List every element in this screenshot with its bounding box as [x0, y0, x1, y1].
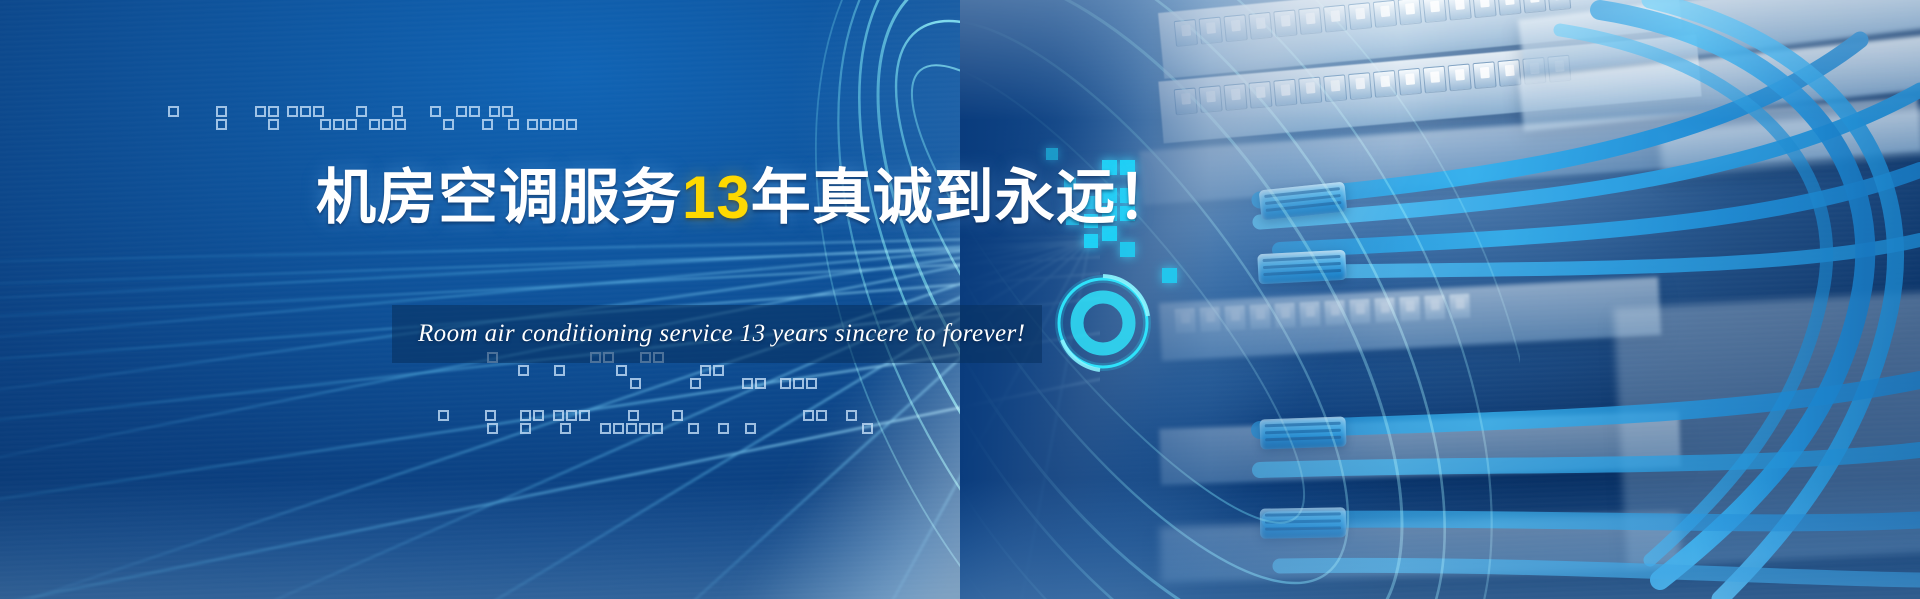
outline-square-icon	[268, 119, 279, 130]
square-pattern-top	[0, 0, 620, 160]
filled-square-icon	[1102, 160, 1117, 175]
outline-square-icon	[456, 106, 467, 117]
outline-square-icon	[369, 119, 380, 130]
outline-square-icon	[168, 106, 179, 117]
outline-square-icon	[862, 423, 873, 434]
outline-square-icon	[392, 106, 403, 117]
outline-square-icon	[489, 106, 500, 117]
outline-square-icon	[630, 378, 641, 389]
outline-square-icon	[846, 410, 857, 421]
outline-square-icon	[346, 119, 357, 130]
filled-square-icon	[1084, 234, 1098, 248]
outline-square-icon	[287, 106, 298, 117]
outline-square-icon	[255, 106, 266, 117]
filled-square-icon	[1120, 242, 1135, 257]
outline-square-icon	[395, 119, 406, 130]
outline-square-icon	[438, 410, 449, 421]
outline-square-icon	[540, 119, 551, 130]
outline-square-icon	[443, 119, 454, 130]
outline-square-icon	[566, 410, 577, 421]
filled-square-icon	[1162, 268, 1177, 283]
outline-square-icon	[590, 352, 601, 363]
outline-square-icon	[469, 106, 480, 117]
outline-square-icon	[533, 410, 544, 421]
filled-square-icon	[1102, 188, 1117, 203]
outline-square-icon	[626, 423, 637, 434]
outline-square-icon	[520, 410, 531, 421]
outline-square-icon	[487, 423, 498, 434]
outline-square-icon	[430, 106, 441, 117]
outline-square-icon	[616, 365, 627, 376]
outline-square-icon	[216, 106, 227, 117]
outline-square-icon	[803, 410, 814, 421]
outline-square-icon	[485, 410, 496, 421]
filled-square-icon	[1064, 178, 1076, 190]
outline-square-icon	[653, 352, 664, 363]
outline-square-icon	[527, 119, 538, 130]
outline-square-icon	[688, 423, 699, 434]
outline-square-icon	[268, 106, 279, 117]
filled-square-icon	[1046, 148, 1058, 160]
hero-banner: 机房空调服务13年真诚到永远！ Room air conditioning se…	[0, 0, 1920, 599]
outline-square-icon	[382, 119, 393, 130]
outline-square-icon	[780, 378, 791, 389]
outline-square-icon	[806, 378, 817, 389]
outline-square-icon	[487, 352, 498, 363]
outline-square-icon	[508, 119, 519, 130]
outline-square-icon	[216, 119, 227, 130]
outline-square-icon	[518, 365, 529, 376]
outline-square-icon	[628, 410, 639, 421]
outline-square-icon	[300, 106, 311, 117]
outline-square-icon	[755, 378, 766, 389]
outline-square-icon	[700, 365, 711, 376]
outline-square-icon	[313, 106, 324, 117]
outline-square-icon	[320, 119, 331, 130]
outline-square-icon	[553, 119, 564, 130]
filled-square-icon	[1066, 212, 1079, 225]
outline-square-icon	[672, 410, 683, 421]
outline-square-icon	[560, 423, 571, 434]
filled-square-icon	[1102, 226, 1117, 241]
outline-square-icon	[713, 365, 724, 376]
filled-square-icon	[1120, 206, 1135, 221]
filled-square-icon	[1102, 206, 1117, 221]
outline-square-icon	[566, 119, 577, 130]
outline-square-icon	[613, 423, 624, 434]
outline-square-icon	[553, 410, 564, 421]
outline-square-icon	[690, 378, 701, 389]
outline-square-icon	[652, 423, 663, 434]
pixel-cluster	[1080, 140, 1240, 300]
outline-square-icon	[816, 410, 827, 421]
outline-square-icon	[718, 423, 729, 434]
outline-square-icon	[554, 365, 565, 376]
filled-square-icon	[1120, 188, 1135, 203]
outline-square-icon	[482, 119, 493, 130]
outline-square-icon	[640, 352, 651, 363]
outline-square-icon	[742, 378, 753, 389]
outline-square-icon	[502, 106, 513, 117]
outline-square-icon	[745, 423, 756, 434]
outline-square-icon	[793, 378, 804, 389]
filled-square-icon	[1084, 196, 1097, 209]
filled-square-icon	[1084, 214, 1098, 228]
filled-square-icon	[1120, 160, 1135, 175]
outline-square-icon	[333, 119, 344, 130]
square-pattern-bottom	[0, 330, 960, 520]
outline-square-icon	[600, 423, 611, 434]
outline-square-icon	[520, 423, 531, 434]
outline-square-icon	[579, 410, 590, 421]
outline-square-icon	[356, 106, 367, 117]
outline-square-icon	[639, 423, 650, 434]
outline-square-icon	[603, 352, 614, 363]
